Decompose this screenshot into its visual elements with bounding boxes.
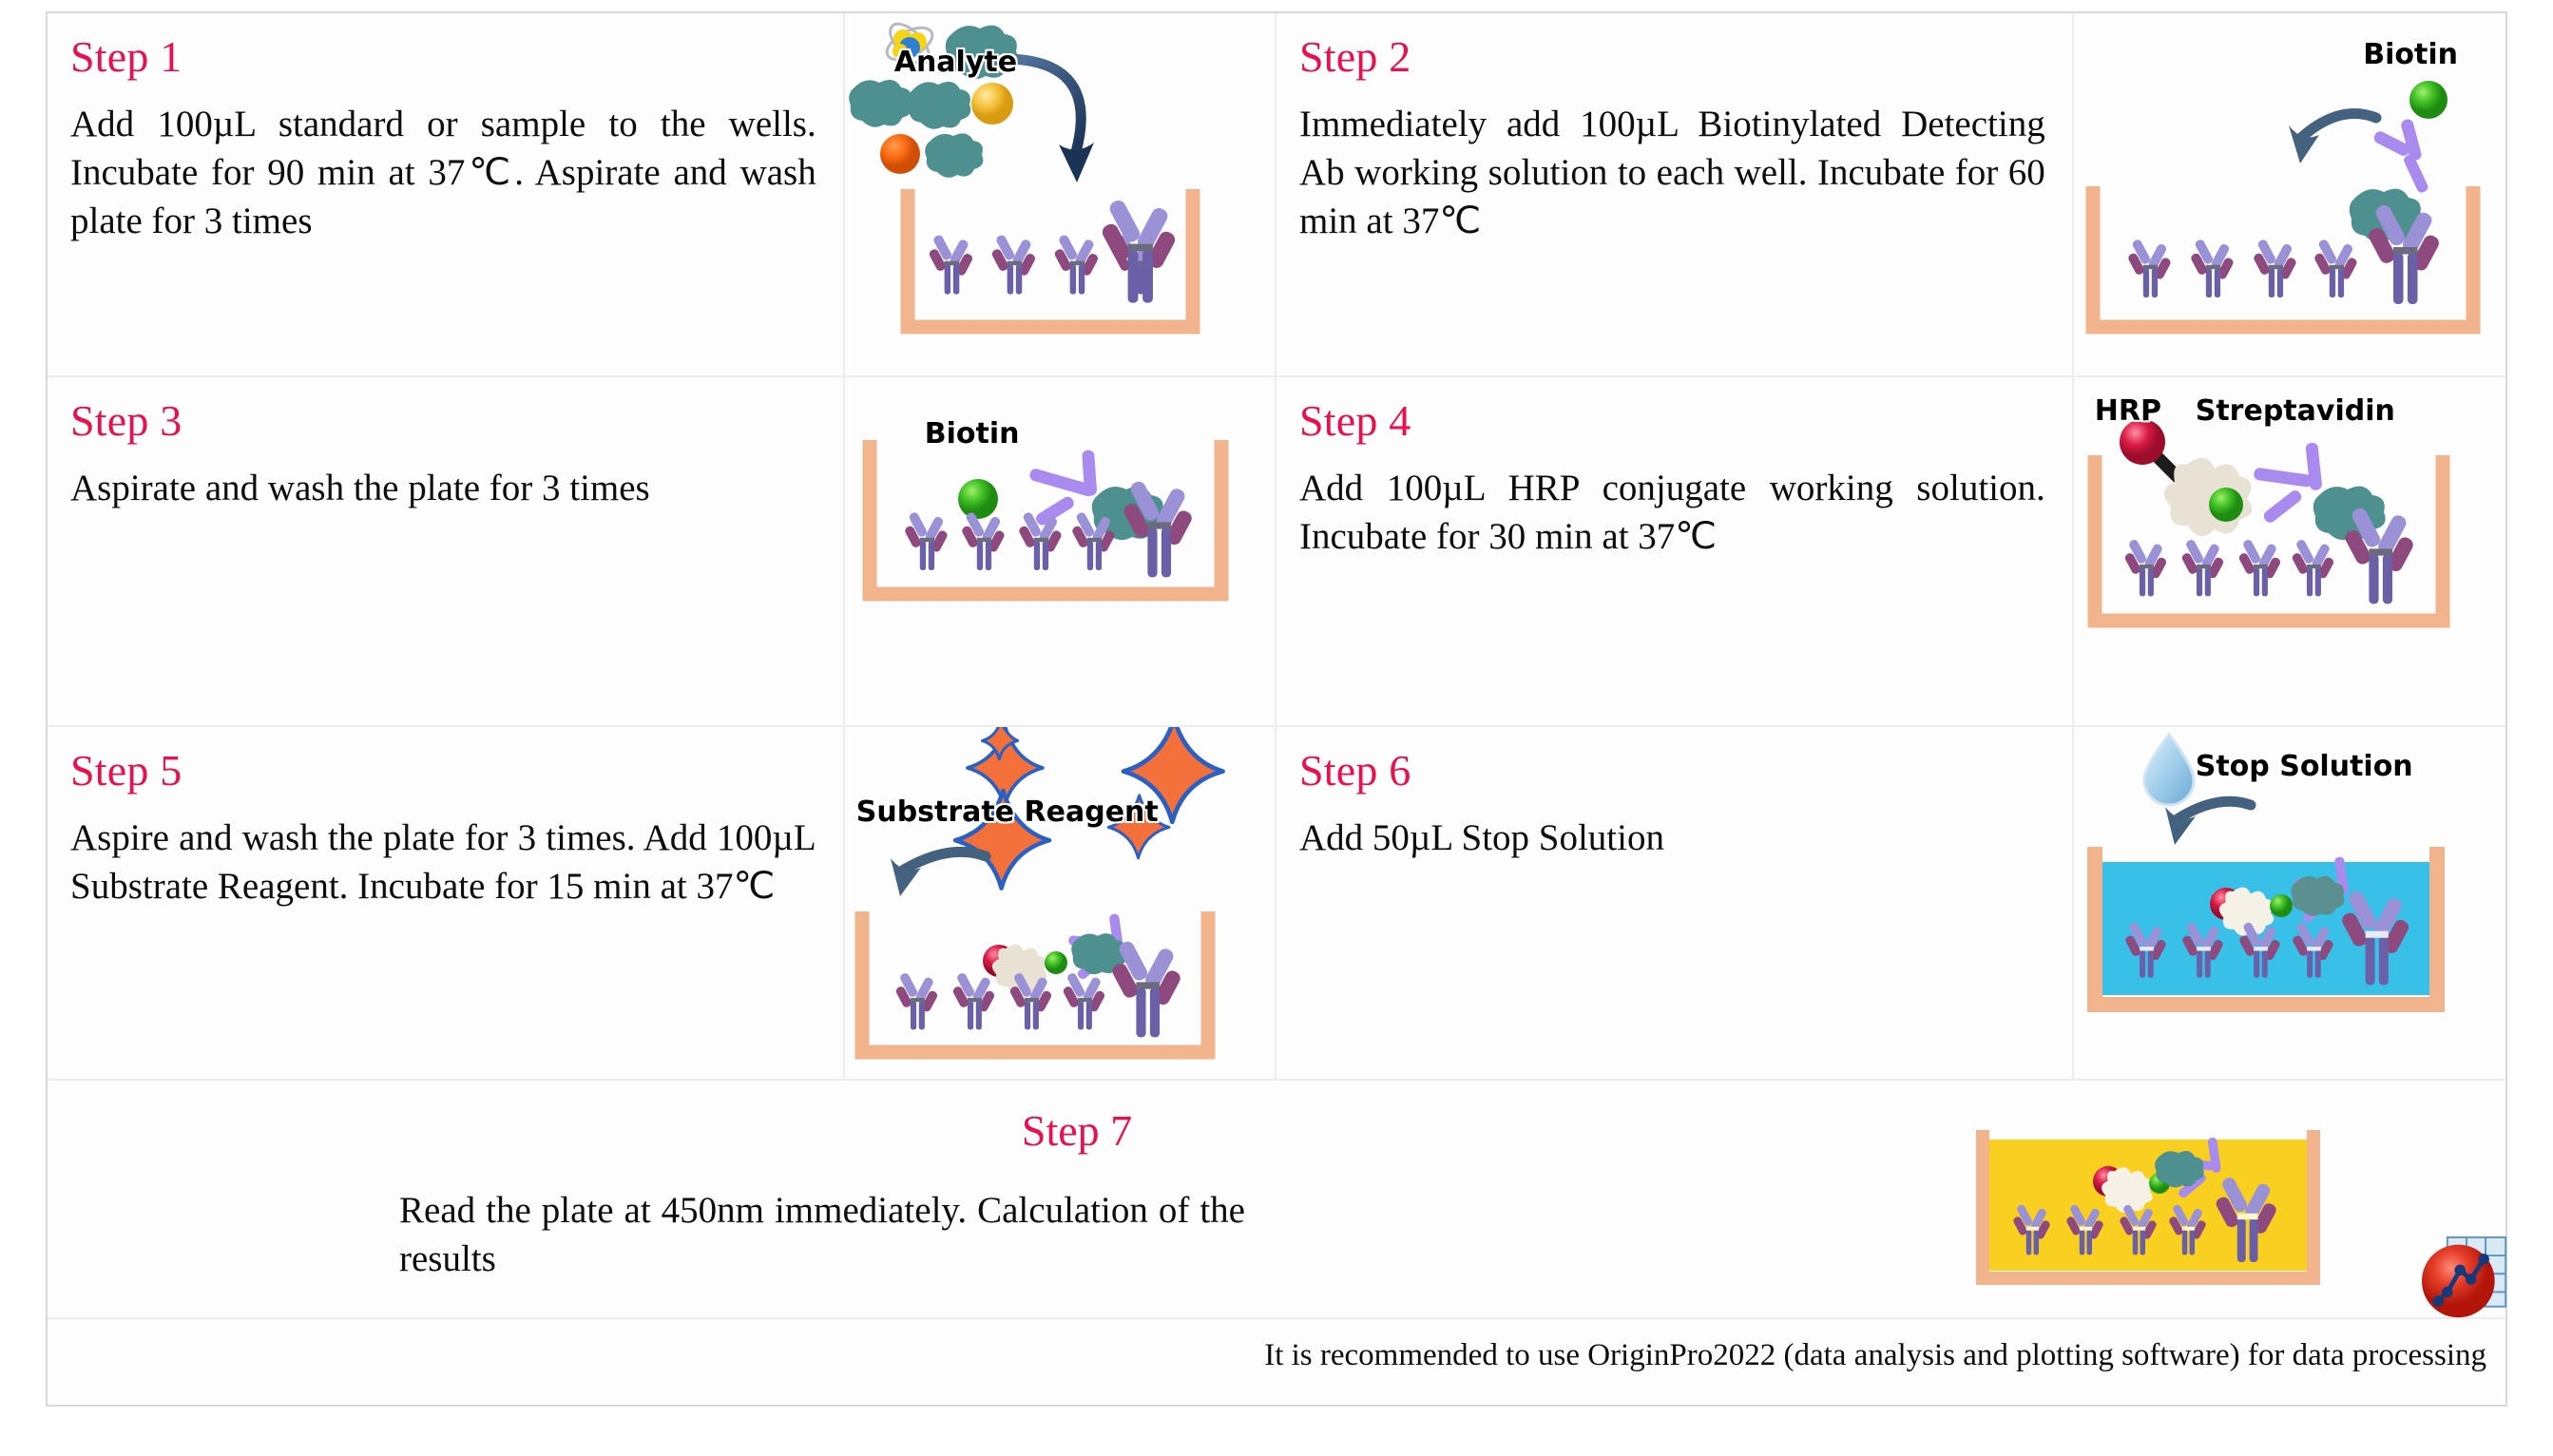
microplate-well: [1983, 1130, 2313, 1278]
step-5-title: Step 5: [70, 748, 816, 794]
step-row-3: Step 5 Aspire and wash the plate for 3 t…: [48, 727, 2505, 1081]
analyte-label: Analyte: [894, 46, 1017, 79]
footer-bar: It is recommended to use OriginPro2022 (…: [48, 1317, 2505, 1405]
step-4-figure: HRP Streptavidin: [2074, 377, 2505, 725]
step-6-body: Add 50µL Stop Solution: [1299, 814, 2045, 863]
step-7-illustration: [1973, 1126, 2334, 1297]
step-2-text-cell: Step 2 Immediately add 100µL Biotinylate…: [1276, 13, 2074, 375]
step-6-figure: Stop Solution: [2074, 727, 2505, 1079]
pour-arrow-icon: [2289, 114, 2376, 164]
originpro-logo: [2420, 1236, 2511, 1323]
step-2-title: Step 2: [1299, 34, 2045, 80]
pour-arrow-icon: [891, 852, 986, 896]
capture-antibody-row: [2123, 539, 2334, 597]
step-row-1: Step 1 Add 100µL standard or sample to t…: [48, 13, 2505, 377]
capture-antibody-row: [2126, 239, 2357, 297]
step-3-illustration: [845, 377, 1276, 725]
step-5-text-cell: Step 5 Aspire and wash the plate for 3 t…: [48, 727, 845, 1079]
step-1-body: Add 100µL standard or sample to the well…: [70, 101, 816, 245]
step-3-body: Aspirate and wash the plate for 3 times: [70, 465, 816, 513]
step-row-7: Step 7 Read the plate at 450nm immediate…: [48, 1081, 2505, 1356]
step-6-title: Step 6: [1299, 748, 2045, 794]
step-3-text-cell: Step 3 Aspirate and wash the plate for 3…: [48, 377, 845, 725]
step-5-figure: Substrate Reagent: [845, 727, 1276, 1079]
biotin-sphere-icon: [1045, 951, 1067, 974]
step-4-illustration: [2074, 377, 2505, 725]
step-1-title: Step 1: [70, 34, 816, 80]
biotin-sphere-icon: [958, 479, 998, 519]
step-row-2: Step 3 Aspirate and wash the plate for 3…: [48, 377, 2505, 727]
yellow-particle: [971, 83, 1013, 125]
footer-recommendation-text: It is recommended to use OriginPro2022 (…: [1264, 1338, 2486, 1373]
step-7-title: Step 7: [48, 1105, 1973, 1156]
orange-particle: [880, 134, 920, 174]
biotin-label: Biotin: [2363, 38, 2458, 71]
water-droplet-icon: [2144, 735, 2194, 805]
step-7-text-cell: Step 7 Read the plate at 450nm immediate…: [48, 1081, 1973, 1356]
biotin-sphere-icon: [2409, 81, 2447, 119]
hrp-label: HRP: [2095, 394, 2161, 428]
step-4-text-cell: Step 4 Add 100µL HRP conjugate working s…: [1276, 377, 2074, 725]
step-6-text-cell: Step 6 Add 50µL Stop Solution: [1276, 727, 2074, 1079]
substrate-reagent-label: Substrate Reagent: [856, 795, 1159, 829]
detection-antibody: [2369, 114, 2442, 202]
pour-arrow-icon: [2165, 801, 2251, 845]
step-5-illustration: [845, 727, 1276, 1079]
streptavidin-label: Streptavidin: [2196, 394, 2395, 428]
step-1-figure: Analyte: [845, 13, 1276, 375]
step-4-body: Add 100µL HRP conjugate working solution…: [1299, 465, 2045, 561]
biotin-sphere-icon: [2270, 894, 2293, 917]
biotin-label: Biotin: [925, 417, 1020, 450]
protocol-diagram-frame: Step 1 Add 100µL standard or sample to t…: [46, 11, 2507, 1407]
step-7-body: Read the plate at 450nm immediately. Cal…: [399, 1186, 1245, 1284]
step-2-body: Immediately add 100µL Biotinylated Detec…: [1299, 101, 2045, 245]
biotin-sphere-icon: [2209, 488, 2243, 522]
step-3-title: Step 3: [70, 398, 816, 444]
step-1-text-cell: Step 1 Add 100µL standard or sample to t…: [48, 13, 845, 375]
capture-antibody-row: [903, 511, 1115, 570]
step-3-figure: Biotin: [845, 377, 1276, 725]
stop-solution-label: Stop Solution: [2196, 750, 2413, 783]
step-4-title: Step 4: [1299, 398, 2045, 444]
step-2-figure: Biotin: [2074, 13, 2505, 375]
step-5-body: Aspire and wash the plate for 3 times. A…: [70, 814, 816, 910]
